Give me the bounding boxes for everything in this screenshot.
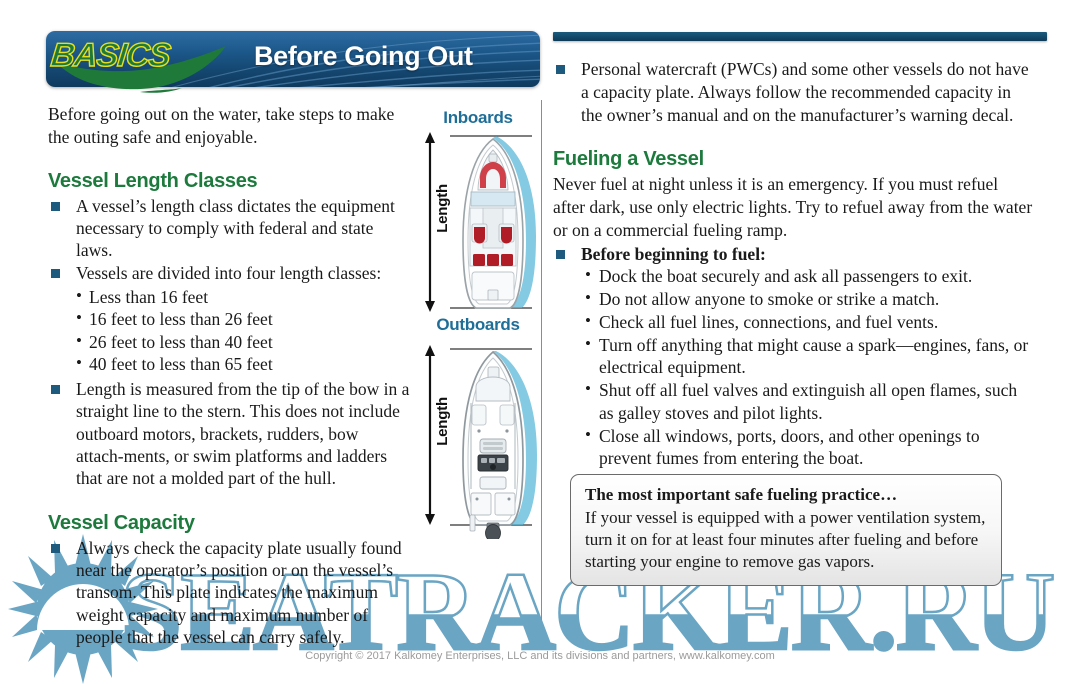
section-heading-vessel-length-classes: Vessel Length Classes [48, 170, 410, 193]
fueling-intro-paragraph: Never fuel at night unless it is an emer… [553, 173, 1033, 241]
fueling-sublist: Dock the boat securely and ask all passe… [553, 265, 1033, 493]
list-item: Do not allow anyone to smoke or strike a… [553, 288, 1033, 311]
list-item: Check all fuel lines, connections, and f… [553, 311, 1033, 334]
basics-logo-icon: BASICS [48, 28, 238, 100]
outboard-boat-illustration [450, 339, 540, 539]
right-column: Personal watercraft (PWCs) and some othe… [553, 58, 1033, 493]
list-item: Length is measured from the tip of the b… [48, 378, 410, 490]
vessel-capacity-bullets: Always check the capacity plate usually … [48, 537, 410, 649]
list-item: 26 feet to less than 40 feet [48, 331, 410, 354]
intro-paragraph: Before going out on the water, take step… [48, 103, 410, 150]
list-item: Vessels are divided into four length cla… [48, 262, 410, 284]
column-divider [541, 100, 542, 620]
vessel-length-classes-sublist: Less than 16 feet 16 feet to less than 2… [48, 286, 410, 376]
list-item: Dock the boat securely and ask all passe… [553, 265, 1033, 288]
svg-text:BASICS: BASICS [49, 37, 172, 74]
list-item-before-beginning-to-fuel: Before beginning to fuel: [553, 243, 1033, 266]
list-item: Shut off all fuel valves and extinguish … [553, 379, 1033, 425]
list-item: Always check the capacity plate usually … [48, 537, 410, 649]
list-item: A vessel’s length class dictates the equ… [48, 195, 410, 262]
list-item: Personal watercraft (PWCs) and some othe… [553, 58, 1033, 126]
list-item: 16 feet to less than 26 feet [48, 308, 410, 331]
section-heading-fueling-a-vessel: Fueling a Vessel [553, 148, 1033, 171]
list-item: 40 feet to less than 65 feet [48, 353, 410, 376]
length-label-inboards: Length [434, 184, 451, 233]
vessel-length-bullets: A vessel’s length class dictates the equ… [48, 195, 410, 285]
diagram-outboards: Outboards Length [418, 315, 538, 539]
footer-copyright: Copyright © 2017 Kalkomey Enterprises, L… [0, 650, 1080, 662]
diagram-label-outboards: Outboards [418, 315, 538, 335]
left-column: Before going out on the water, take step… [48, 103, 410, 649]
section-heading-vessel-capacity: Vessel Capacity [48, 512, 410, 535]
callout-body: If your vessel is equipped with a power … [585, 507, 987, 573]
callout-title: The most important safe fueling practice… [585, 484, 987, 506]
length-label-outboards: Length [434, 397, 451, 446]
page-title: Before Going Out [254, 41, 473, 72]
callout-box: The most important safe fueling practice… [570, 474, 1002, 586]
diagram-label-inboards: Inboards [418, 108, 538, 128]
list-item: Less than 16 feet [48, 286, 410, 309]
vessel-length-bullets-after: Length is measured from the tip of the b… [48, 378, 410, 490]
list-item: Close all windows, ports, doors, and oth… [553, 425, 1033, 471]
list-item: Turn off anything that might cause a spa… [553, 334, 1033, 380]
diagram-inboards: Inboards Length [418, 108, 538, 312]
inboard-boat-illustration [450, 132, 536, 312]
top-rule-bar [553, 32, 1047, 41]
